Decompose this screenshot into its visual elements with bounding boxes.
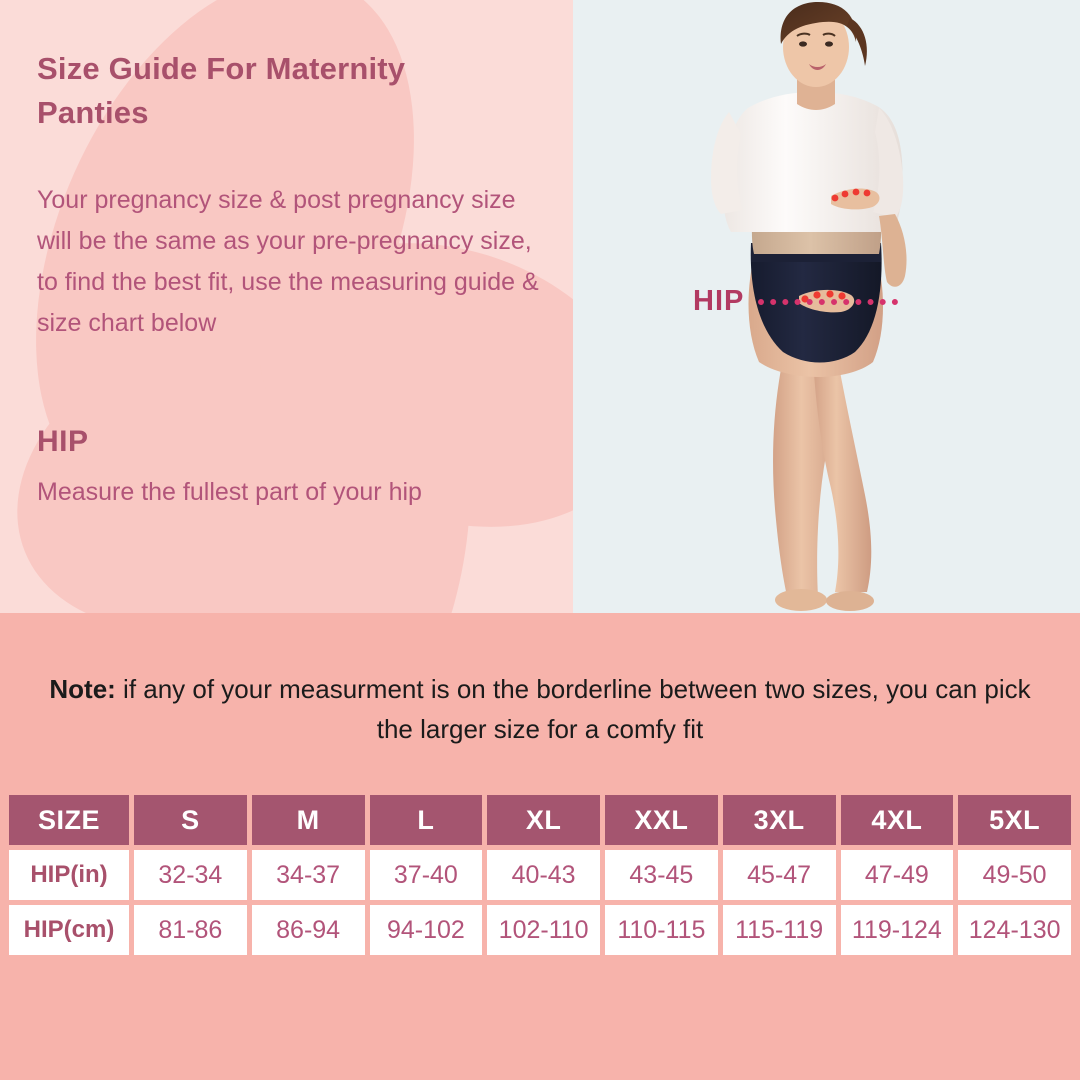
note-label: Note: <box>49 674 115 704</box>
cell-hip-in-m: 34-37 <box>252 850 365 900</box>
hip-measurement-dotted-line <box>758 299 898 305</box>
photo-panel: HIP <box>573 0 1080 613</box>
note-body: if any of your measurment is on the bord… <box>116 674 1031 744</box>
table-row: HIP(cm) 81-86 86-94 94-102 102-110 110-1… <box>9 905 1071 955</box>
header-cell-5xl: 5XL <box>958 795 1071 845</box>
cell-hip-in-l: 37-40 <box>370 850 483 900</box>
header-cell-xxl: XXL <box>605 795 718 845</box>
header-cell-xl: XL <box>487 795 600 845</box>
cell-hip-cm-s: 81-86 <box>134 905 247 955</box>
cell-hip-cm-4xl: 119-124 <box>841 905 954 955</box>
info-panel: Size Guide For Maternity Panties Your pr… <box>0 0 573 613</box>
cell-hip-cm-xxl: 110-115 <box>605 905 718 955</box>
cell-hip-in-5xl: 49-50 <box>958 850 1071 900</box>
guide-description: Your pregnancy size & post pregnancy siz… <box>37 180 547 344</box>
bottom-section: Note: if any of your measurment is on th… <box>0 613 1080 1080</box>
cell-hip-in-3xl: 45-47 <box>723 850 836 900</box>
hip-callout-label: HIP <box>693 285 744 318</box>
cell-hip-cm-5xl: 124-130 <box>958 905 1071 955</box>
row-label-hip-cm: HIP(cm) <box>9 905 129 955</box>
header-cell-size: SIZE <box>9 795 129 845</box>
cell-hip-in-s: 32-34 <box>134 850 247 900</box>
header-cell-m: M <box>252 795 365 845</box>
size-chart-table: SIZE S M L XL XXL 3XL 4XL 5XL HIP(in) 32… <box>4 790 1076 960</box>
hip-section-heading: HIP <box>37 425 89 459</box>
model-photo <box>573 0 1080 613</box>
table-header-row: SIZE S M L XL XXL 3XL 4XL 5XL <box>9 795 1071 845</box>
cell-hip-in-xxl: 43-45 <box>605 850 718 900</box>
cell-hip-in-4xl: 47-49 <box>841 850 954 900</box>
cell-hip-cm-3xl: 115-119 <box>723 905 836 955</box>
table-row: HIP(in) 32-34 34-37 37-40 40-43 43-45 45… <box>9 850 1071 900</box>
cell-hip-cm-xl: 102-110 <box>487 905 600 955</box>
hip-measure-instruction: Measure the fullest part of your hip <box>37 474 547 512</box>
top-section: Size Guide For Maternity Panties Your pr… <box>0 0 1080 613</box>
header-cell-l: L <box>370 795 483 845</box>
info-content: Size Guide For Maternity Panties Your pr… <box>0 0 573 613</box>
cell-hip-cm-m: 86-94 <box>252 905 365 955</box>
cell-hip-cm-l: 94-102 <box>370 905 483 955</box>
header-cell-4xl: 4XL <box>841 795 954 845</box>
header-cell-3xl: 3XL <box>723 795 836 845</box>
page-title: Size Guide For Maternity Panties <box>37 47 507 135</box>
header-cell-s: S <box>134 795 247 845</box>
row-label-hip-in: HIP(in) <box>9 850 129 900</box>
cell-hip-in-xl: 40-43 <box>487 850 600 900</box>
size-guide-infographic: Size Guide For Maternity Panties Your pr… <box>0 0 1080 1080</box>
note-text: Note: if any of your measurment is on th… <box>0 670 1080 749</box>
